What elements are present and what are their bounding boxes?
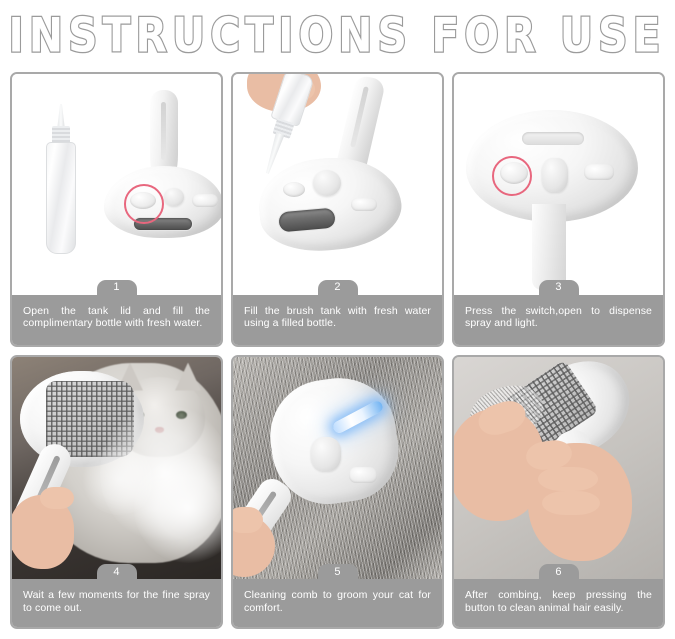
- highlight-ring-switch: [492, 156, 532, 196]
- spray-mist-tail: [82, 445, 156, 515]
- step-caption-1: 1 Open the tank lid and fill the complim…: [12, 295, 221, 345]
- device-side-button: [349, 467, 377, 483]
- step-card-4: 4 Wait a few moments for the fine spray …: [10, 355, 223, 630]
- step-caption-text-1: Open the tank lid and fill the complimen…: [23, 305, 210, 330]
- thumb: [233, 507, 263, 533]
- device-side-button: [584, 164, 614, 180]
- page-title-wrap: INSTRUCTIONS FOR USE: [0, 0, 675, 72]
- index-finger: [40, 487, 74, 509]
- step-photo-4: [12, 357, 221, 580]
- step-caption-text-4: Wait a few moments for the fine spray to…: [23, 589, 210, 614]
- step-card-1: 1 Open the tank lid and fill the complim…: [10, 72, 223, 347]
- step-number-badge-2: 2: [318, 280, 358, 297]
- step-photo-5: [233, 357, 442, 580]
- step-number-badge-3: 3: [539, 280, 579, 297]
- step-caption-text-6: After combing, keep pressing the button …: [465, 589, 652, 614]
- device-center-knob: [164, 188, 184, 206]
- device-handle-slot: [161, 102, 166, 160]
- step-caption-6: 6 After combing, keep pressing the butto…: [454, 579, 663, 627]
- step-photo-1: [12, 74, 221, 295]
- pet-brush-device: [259, 132, 419, 282]
- device-side-button: [351, 198, 377, 211]
- device-base: [255, 151, 406, 257]
- step-caption-text-5: Cleaning comb to groom your cat for comf…: [244, 589, 431, 614]
- step-caption-5: 5 Cleaning comb to groom your cat for co…: [233, 579, 442, 627]
- step-caption-3: 3 Press the switch,open to dispense spra…: [454, 295, 663, 345]
- finger-2: [538, 467, 598, 491]
- device-tank-cap-open: [283, 182, 305, 197]
- step-caption-text-2: Fill the brush tank with fresh water usi…: [244, 305, 431, 330]
- step-caption-4: 4 Wait a few moments for the fine spray …: [12, 579, 221, 627]
- device-center-knob: [542, 158, 568, 192]
- step-caption-text-3: Press the switch,open to dispense spray …: [465, 305, 652, 330]
- pet-brush-device: [253, 375, 403, 555]
- steps-grid: 1 Open the tank lid and fill the complim…: [0, 72, 675, 639]
- highlight-ring-tank-cap: [124, 184, 164, 224]
- step-card-5: 5 Cleaning comb to groom your cat for co…: [231, 355, 444, 630]
- device-center-knob: [311, 437, 341, 471]
- page-title: INSTRUCTIONS FOR USE: [9, 9, 666, 63]
- step-card-6: 6 After combing, keep pressing the butto…: [452, 355, 665, 630]
- bottle-body: [46, 142, 76, 254]
- step-card-3: 3 Press the switch,open to dispense spra…: [452, 72, 665, 347]
- pet-brush-device: [104, 96, 221, 256]
- step-photo-3: [454, 74, 663, 295]
- finger-3: [542, 491, 600, 515]
- step-photo-2: [233, 74, 442, 295]
- step-photo-6: [454, 357, 663, 580]
- device-open-tank-port: [313, 170, 341, 196]
- step-number-badge-4: 4: [97, 564, 137, 581]
- step-number-badge-1: 1: [97, 280, 137, 297]
- step-card-2: 2 Fill the brush tank with fresh water u…: [231, 72, 444, 347]
- device-handle: [532, 204, 566, 290]
- instructions-page: INSTRUCTIONS FOR USE: [0, 0, 675, 639]
- device-light-slot: [522, 132, 584, 145]
- step-number-badge-6: 6: [539, 564, 579, 581]
- pet-brush-device-closeup: [466, 100, 646, 280]
- step-caption-2: 2 Fill the brush tank with fresh water u…: [233, 295, 442, 345]
- step-number-badge-5: 5: [318, 564, 358, 581]
- water-bottle: [46, 104, 76, 254]
- device-side-button: [192, 194, 218, 207]
